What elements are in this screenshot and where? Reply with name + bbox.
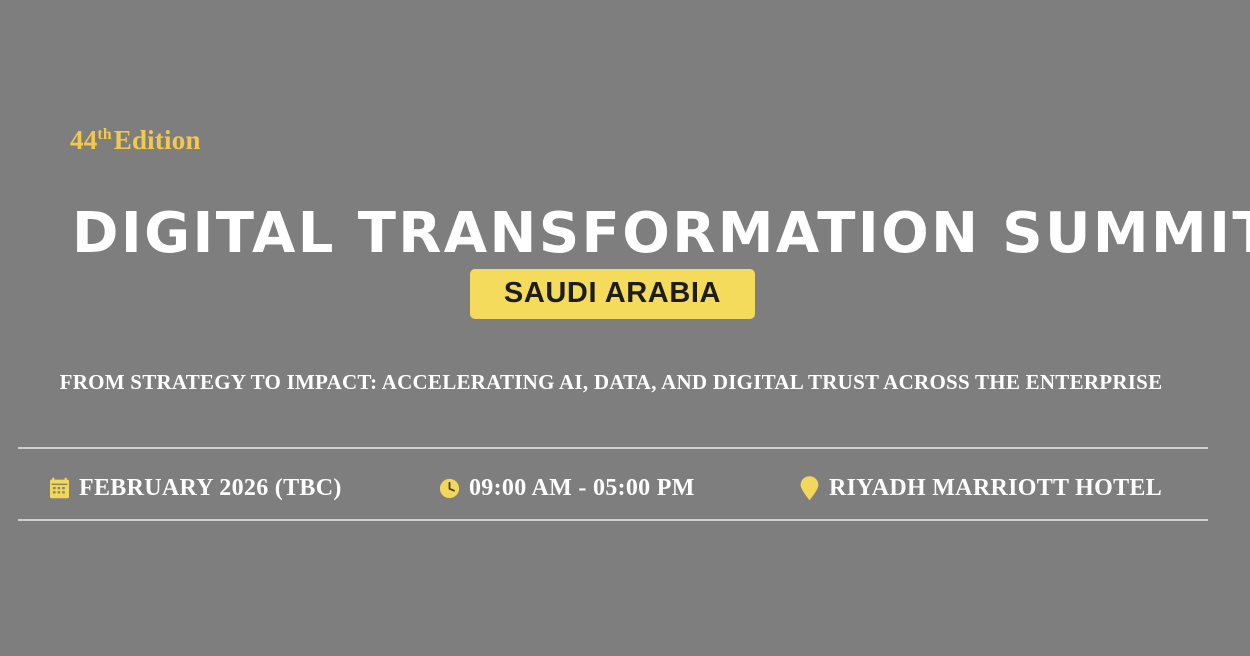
edition-number: 44 [70, 125, 97, 155]
event-banner: 44thEdition DIGITAL TRANSFORMATION SUMMI… [0, 0, 1250, 656]
edition-label: 44thEdition [70, 127, 201, 154]
event-subtitle: FROM STRATEGY TO IMPACT: ACCELERATING AI… [0, 370, 1222, 395]
event-meta-row: FEBRUARY 2026 (TBC) 09:00 AM - 05:00 PM … [18, 465, 1208, 511]
edition-word: Edition [114, 125, 201, 155]
country-badge-row: SAUDI ARABIA [0, 269, 1225, 319]
event-venue-item: RIYADH MARRIOTT HOTEL [798, 465, 1162, 511]
calendar-icon [48, 476, 70, 500]
event-time-label: 09:00 AM - 05:00 PM [469, 475, 695, 502]
page-title: DIGITAL TRANSFORMATION SUMMIT [72, 201, 1250, 267]
divider-top [18, 447, 1208, 449]
country-badge: SAUDI ARABIA [470, 269, 755, 319]
edition-ordinal-suffix: th [97, 126, 111, 143]
event-venue-label: RIYADH MARRIOTT HOTEL [829, 475, 1162, 502]
clock-icon [438, 476, 460, 500]
map-pin-icon [798, 476, 820, 500]
event-date-item: FEBRUARY 2026 (TBC) [48, 465, 342, 511]
event-date-label: FEBRUARY 2026 (TBC) [79, 475, 342, 502]
event-time-item: 09:00 AM - 05:00 PM [438, 465, 695, 511]
divider-bottom [18, 519, 1208, 521]
